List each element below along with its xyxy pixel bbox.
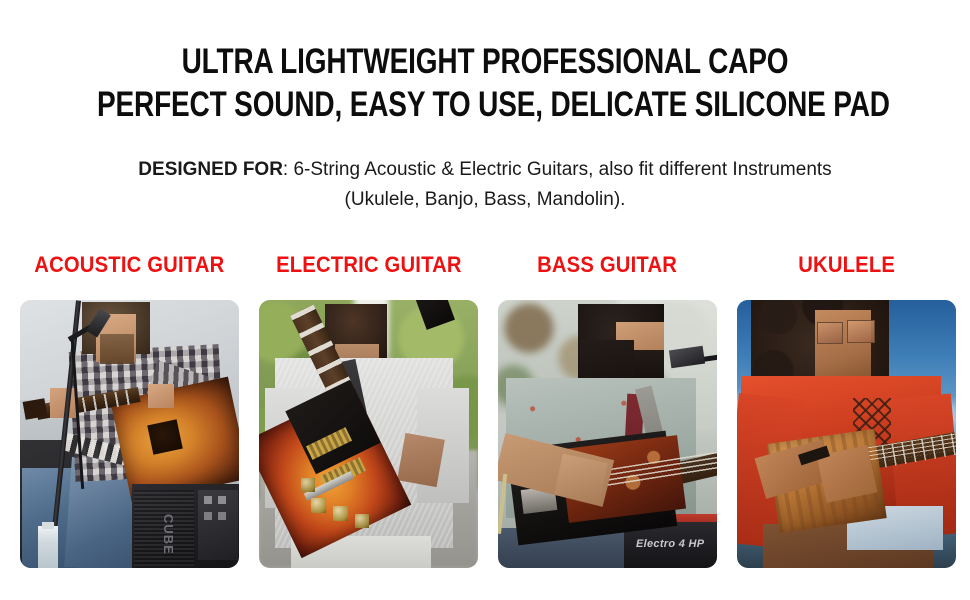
photo1-bottle-cap [42,522,54,529]
category-label-ukulele: UKULELE [798,252,895,278]
photo3-keyboard-brand-text: Electro 4 HP [636,538,717,554]
category-label-acoustic-guitar: ACOUSTIC GUITAR [34,252,224,278]
subheading: DESIGNED FOR: 6-String Acoustic & Electr… [112,155,858,215]
subheading-text: : 6-String Acoustic & Electric Guitars, … [283,159,832,210]
photo2-control-knob [301,478,315,492]
photo2-arm [397,433,445,487]
photo4-sunglasses-lens-left [817,322,843,344]
photo1-strumming-hand [148,384,174,408]
photo1-amp-knob [218,512,226,520]
photo1-amp-knob [204,496,212,504]
photo2-control-knob [311,498,326,513]
headline-line-1: ULTRA LIGHTWEIGHT PROFESSIONAL CAPO [97,40,873,83]
photo1-amp-knob [218,496,226,504]
photo-ukulele [737,300,956,568]
photo1-headstock [23,398,48,420]
photo2-control-knob [355,514,369,528]
category-grid: ACOUSTIC GUITAR [0,252,970,568]
photo1-water-bottle [38,526,58,568]
photo-electric-guitar [259,300,478,568]
category-label-electric-guitar: ELECTRIC GUITAR [276,252,462,278]
photo3-instrument-cable [498,474,547,538]
photo1-amp-knob [204,512,212,520]
photo1-amp-brand-text: CUBE [142,514,176,554]
category-cell-ukulele: UKULELE [737,252,956,568]
photo-acoustic-guitar: CUBE [20,300,239,568]
category-cell-acoustic-guitar: ACOUSTIC GUITAR [20,252,239,568]
photo-bass-guitar: Electro 4 HP [498,300,717,568]
category-cell-bass-guitar: BASS GUITAR Electro 4 HP [498,252,717,568]
category-cell-electric-guitar: ELECTRIC GUITAR [259,252,478,568]
category-label-bass-guitar: BASS GUITAR [538,252,678,278]
photo2-control-knob [333,506,348,521]
photo1-beard [100,334,134,364]
photo4-sunglasses-lens-right [847,320,875,343]
subheading-label: DESIGNED FOR [138,159,283,180]
page-title: ULTRA LIGHTWEIGHT PROFESSIONAL CAPO PERF… [0,40,970,126]
headline-line-2: PERFECT SOUND, EASY TO USE, DELICATE SIL… [97,83,873,126]
photo1-soundhole [147,419,183,455]
product-banner: ULTRA LIGHTWEIGHT PROFESSIONAL CAPO PERF… [0,0,970,600]
